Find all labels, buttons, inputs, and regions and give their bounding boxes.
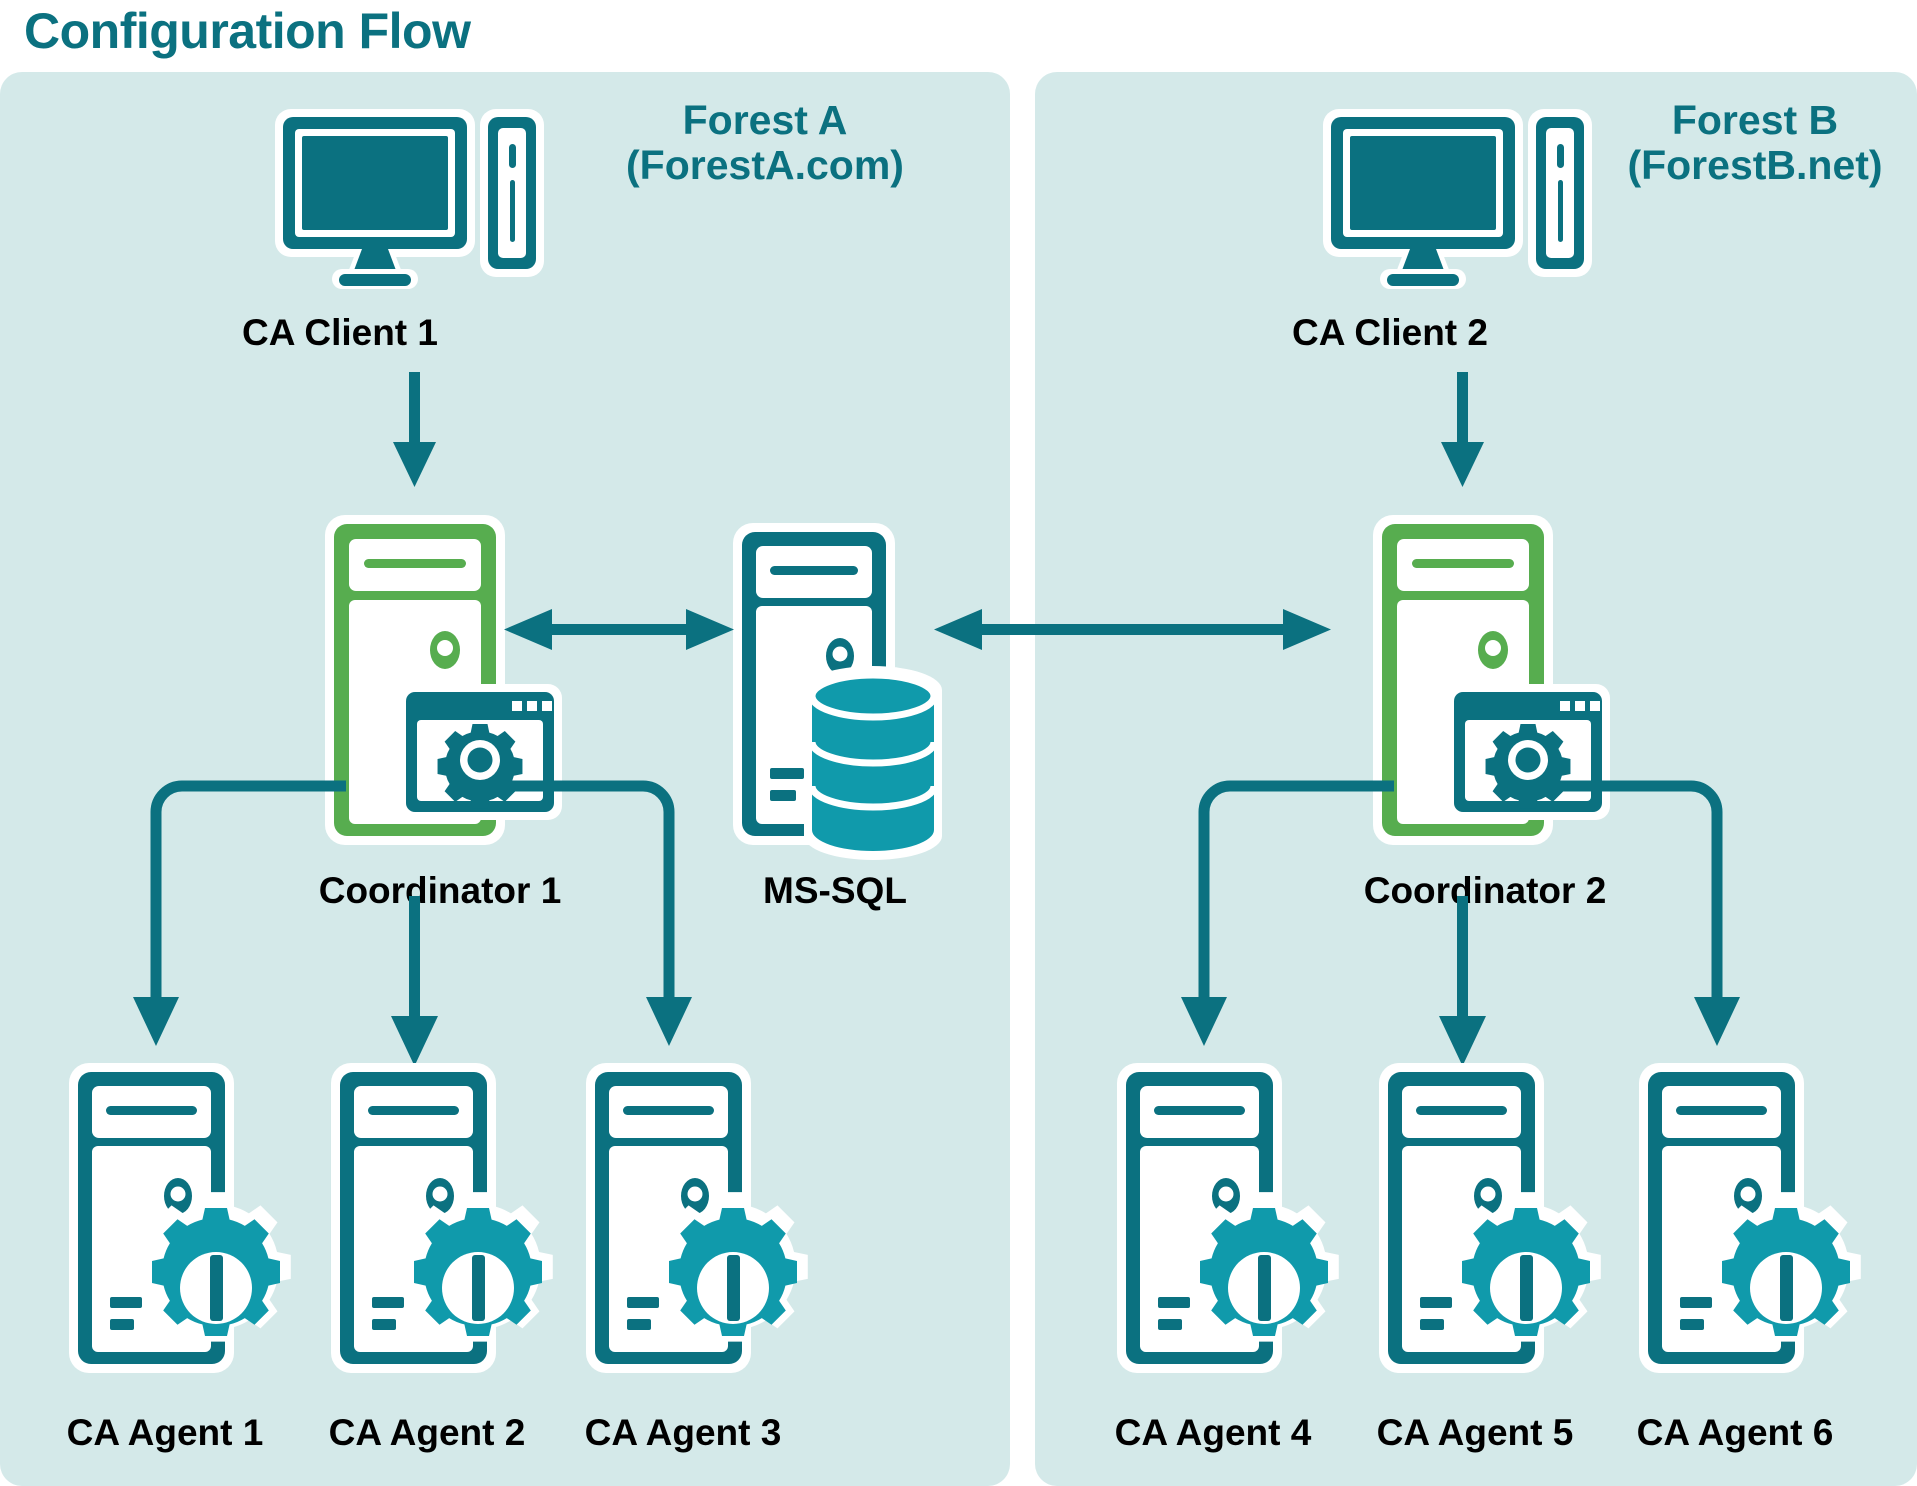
forest-b-name: Forest B: [1600, 98, 1910, 143]
connector-client2-to-coordinator2: [1433, 372, 1493, 492]
connector-client1-to-coordinator1: [385, 372, 445, 492]
ca-client-1-label: CA Client 1: [180, 312, 500, 354]
ca-agent-4-label: CA Agent 4: [1078, 1412, 1348, 1454]
ca-agent-1-label: CA Agent 1: [30, 1412, 300, 1454]
connector-coordinator1-to-agent1: [140, 775, 350, 1065]
desktop-computer-icon-client1[interactable]: [272, 106, 547, 291]
forest-a-label: Forest A (ForestA.com): [575, 98, 955, 188]
ca-client-2-label: CA Client 2: [1230, 312, 1550, 354]
connector-coordinator2-to-agent6: [1523, 775, 1733, 1065]
desktop-computer-icon-client2[interactable]: [1320, 106, 1595, 291]
agent-server-gear-icon-1[interactable]: [66, 1060, 301, 1375]
ca-agent-5-label: CA Agent 5: [1340, 1412, 1610, 1454]
ca-agent-6-label: CA Agent 6: [1600, 1412, 1870, 1454]
agent-server-gear-icon-3[interactable]: [583, 1060, 818, 1375]
database-server-icon[interactable]: [730, 520, 975, 850]
ms-sql-label: MS-SQL: [690, 870, 980, 912]
connector-coordinator1-to-agent3: [475, 775, 685, 1065]
connector-coordinator2-to-agent5: [1433, 896, 1493, 1068]
ca-agent-2-label: CA Agent 2: [292, 1412, 562, 1454]
forest-a-name: Forest A: [575, 98, 955, 143]
agent-server-gear-icon-2[interactable]: [328, 1060, 563, 1375]
connector-coordinator1-to-mssql: [500, 600, 738, 660]
forest-b-label: Forest B (ForestB.net): [1600, 98, 1910, 188]
forest-a-domain: (ForestA.com): [575, 143, 955, 188]
connector-mssql-to-coordinator2: [930, 600, 1335, 660]
forest-b-domain: (ForestB.net): [1600, 143, 1910, 188]
ca-agent-3-label: CA Agent 3: [548, 1412, 818, 1454]
agent-server-gear-icon-6[interactable]: [1636, 1060, 1871, 1375]
connector-coordinator1-to-agent2: [385, 896, 445, 1068]
agent-server-gear-icon-5[interactable]: [1376, 1060, 1611, 1375]
agent-server-gear-icon-4[interactable]: [1114, 1060, 1349, 1375]
connector-coordinator2-to-agent4: [1188, 775, 1398, 1065]
page-title: Configuration Flow: [24, 2, 470, 60]
